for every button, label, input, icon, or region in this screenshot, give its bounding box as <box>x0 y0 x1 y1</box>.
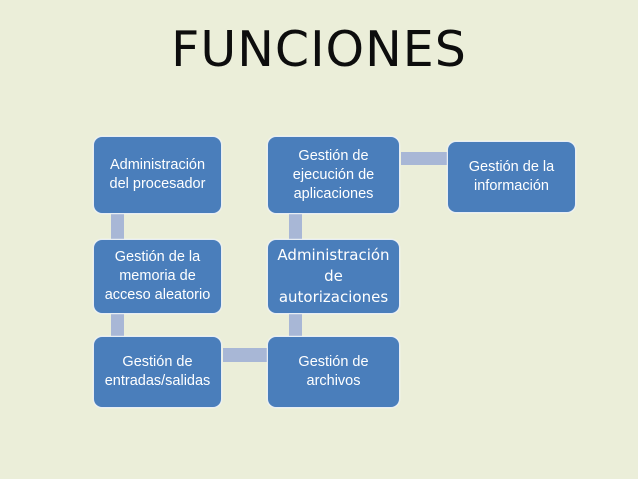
connector-procesador-to-memoria <box>111 214 124 239</box>
connector-entradas-to-archivos <box>223 348 268 362</box>
node-label: Gestión de entradas/salidas <box>100 353 215 391</box>
node-administracion-de-autorizaciones[interactable]: Administración de autorizaciones <box>267 239 400 314</box>
node-label: Administración de autorizaciones <box>274 245 393 308</box>
page-title: FUNCIONES <box>0 22 638 78</box>
node-label: Gestión de archivos <box>274 353 393 391</box>
node-gestion-memoria-acceso-aleatorio[interactable]: Gestión de la memoria de acceso aleatori… <box>93 239 222 314</box>
connector-autorizaciones-to-archivos <box>289 314 302 336</box>
node-administracion-del-procesador[interactable]: Administración del procesador <box>93 136 222 214</box>
node-label: Gestión de la memoria de acceso aleatori… <box>100 248 215 305</box>
node-gestion-entradas-salidas[interactable]: Gestión de entradas/salidas <box>93 336 222 408</box>
connector-memoria-to-entradas <box>111 314 124 336</box>
slide-canvas: FUNCIONES Administración del procesador … <box>0 0 638 479</box>
node-label: Gestión de ejecución de aplicaciones <box>274 147 393 204</box>
connector-ejecucion-to-informacion <box>401 152 447 165</box>
node-gestion-ejecucion-aplicaciones[interactable]: Gestión de ejecución de aplicaciones <box>267 136 400 214</box>
node-gestion-de-la-informacion[interactable]: Gestión de la información <box>447 141 576 213</box>
node-label: Gestión de la información <box>454 158 569 196</box>
node-label: Administración del procesador <box>100 156 215 194</box>
connector-ejecucion-to-autorizaciones <box>289 214 302 239</box>
node-gestion-de-archivos[interactable]: Gestión de archivos <box>267 336 400 408</box>
